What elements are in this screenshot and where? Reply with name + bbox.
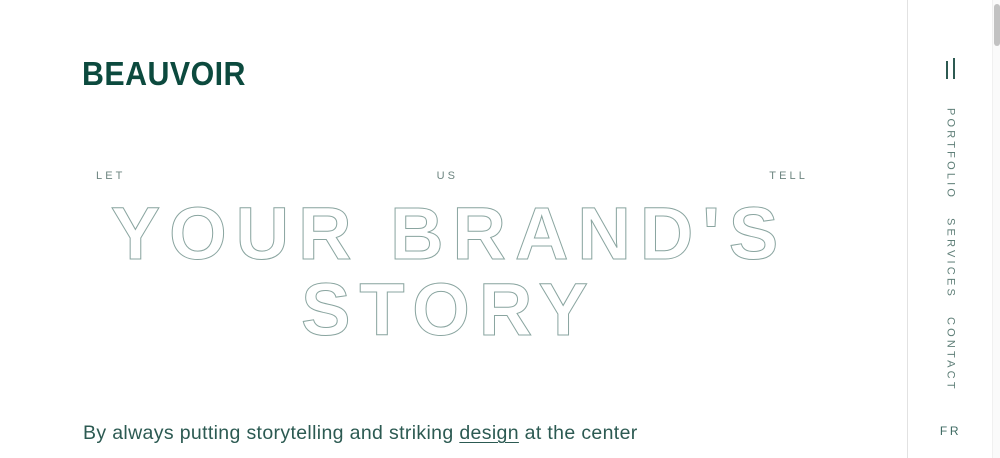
hero-headline-line-2: STORY [84, 272, 814, 348]
design-link[interactable]: design [459, 422, 519, 444]
hero-headline: YOUR BRAND'S STORY [84, 196, 814, 348]
brand-logo[interactable]: BEAUVOIR [82, 54, 246, 94]
hero-headline-line-1: YOUR BRAND'S [84, 196, 814, 272]
hero-paragraph: By always putting storytelling and strik… [83, 418, 873, 448]
sidebar-nav: PORTFOLIO SERVICES CONTACT [908, 108, 993, 392]
menu-bar-right [953, 58, 955, 79]
kicker-word-us: US [437, 168, 458, 184]
scrollbar-thumb[interactable] [994, 4, 1000, 46]
menu-bar-left [946, 61, 948, 79]
sidebar-item-contact[interactable]: CONTACT [908, 317, 993, 392]
language-switcher[interactable]: FR [908, 424, 993, 438]
sidebar-item-services-label: SERVICES [945, 218, 957, 299]
sidebar-item-portfolio[interactable]: PORTFOLIO [908, 108, 993, 200]
kicker-word-tell: TELL [769, 168, 808, 184]
vertical-bars-menu-icon[interactable] [937, 58, 963, 84]
sidebar-item-contact-label: CONTACT [945, 317, 957, 392]
right-sidebar: PORTFOLIO SERVICES CONTACT FR [907, 0, 992, 458]
hero-paragraph-text-before: By always putting storytelling and strik… [83, 422, 459, 444]
kicker-word-let: LET [96, 168, 125, 184]
hero-kicker-row: LET US TELL [96, 168, 808, 184]
page-root: BEAUVOIR LET US TELL YOUR BRAND'S STORY … [0, 0, 1000, 458]
hero-paragraph-text-after: at the center [519, 422, 638, 444]
sidebar-item-services[interactable]: SERVICES [908, 218, 993, 299]
sidebar-item-portfolio-label: PORTFOLIO [945, 108, 957, 200]
scrollbar-track[interactable] [992, 0, 1000, 458]
main-content: BEAUVOIR LET US TELL YOUR BRAND'S STORY … [0, 0, 907, 458]
